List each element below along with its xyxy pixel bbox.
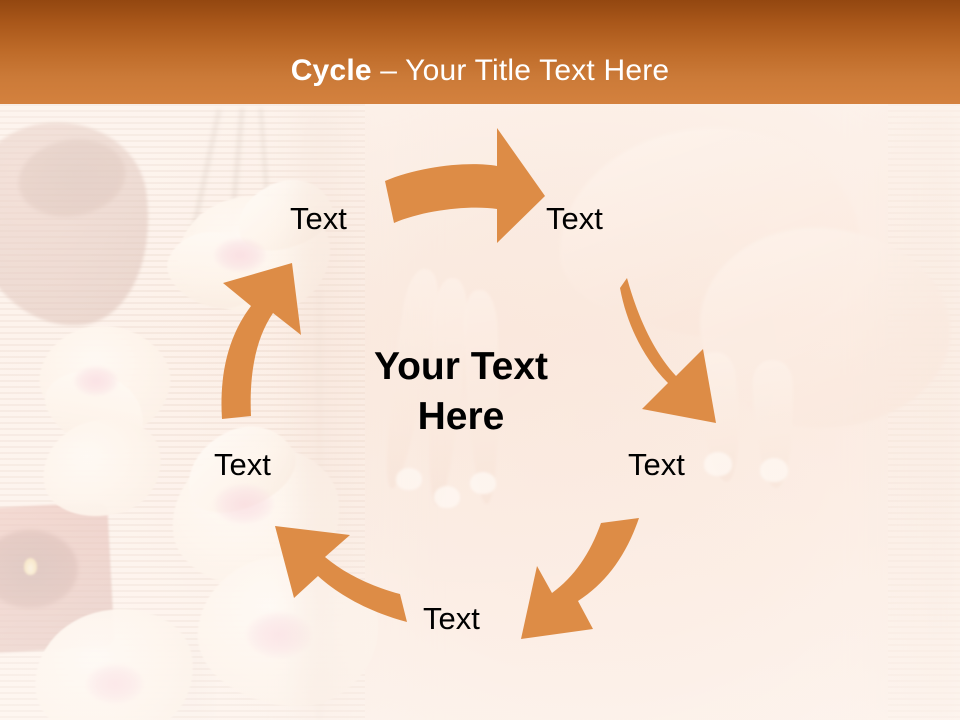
node-label-top-left[interactable]: Text — [290, 202, 347, 236]
slide-canvas: Text Text Text Text Text Your Text Here … — [0, 0, 960, 720]
arrow-upper-right[interactable] — [620, 278, 716, 423]
arrow-lower-right[interactable] — [521, 518, 639, 639]
page-title[interactable]: Cycle – Your Title Text Here — [0, 54, 960, 88]
title-bar: Cycle – Your Title Text Here — [0, 0, 960, 104]
node-label-left[interactable]: Text — [214, 448, 271, 482]
node-label-right[interactable]: Text — [628, 448, 685, 482]
arrow-upper-left[interactable] — [221, 263, 301, 419]
center-text[interactable]: Your Text Here — [330, 342, 592, 442]
arrow-lower-left[interactable] — [275, 526, 407, 622]
node-label-bottom[interactable]: Text — [423, 602, 480, 636]
page-title-bold-part: Cycle — [291, 54, 372, 87]
page-title-rest: – Your Title Text Here — [372, 54, 670, 87]
node-label-top-right[interactable]: Text — [546, 202, 603, 236]
cycle-diagram: Text Text Text Text Text Your Text Here — [0, 0, 960, 720]
arrow-top[interactable] — [385, 128, 545, 243]
